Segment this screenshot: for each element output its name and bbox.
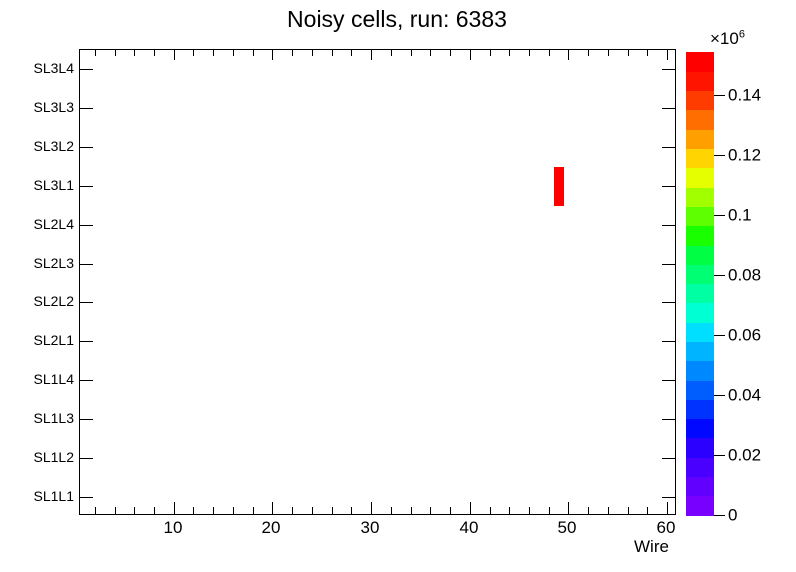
palette-band [686,457,714,477]
z-axis-tick [714,335,725,336]
x-axis-tick-top [213,50,214,56]
x-axis-tick-minor [332,507,333,514]
x-axis-tick-top [332,50,333,56]
x-axis-tick-minor [608,507,609,514]
x-axis-tick-top [193,50,194,56]
x-axis-tick-top [549,50,550,56]
y-axis-tick-right [662,147,675,148]
x-axis-tick-minor [529,507,530,514]
x-axis-tick-major [371,502,372,514]
z-axis-label-0-14: 0.14 [728,87,761,104]
x-axis-tick-top [371,50,372,60]
x-axis-tick-major [667,502,668,514]
palette-band [686,91,714,111]
palette-band [686,129,714,149]
heatmap-cell [554,167,564,206]
y-axis-tick [80,380,93,381]
z-axis-tick [714,275,725,276]
x-axis-tick-minor [628,507,629,514]
palette-band [686,245,714,265]
palette-band [686,341,714,361]
x-axis-tick-top [95,50,96,56]
x-axis-tick-minor [391,507,392,514]
y-axis-tick-right [662,419,675,420]
y-axis-label-sl3l2: SL3L2 [34,139,74,153]
x-axis-tick-top [430,50,431,56]
z-axis-label-0-06: 0.06 [728,327,761,344]
z-exponent-base: ×10 [710,29,739,48]
x-axis-tick-minor [292,507,293,514]
z-axis-tick [714,215,725,216]
z-axis-label-0-12: 0.12 [728,147,761,164]
x-axis-label-50: 50 [558,519,577,537]
z-axis-label-0-1: 0.1 [728,207,752,224]
x-axis-tick-minor [233,507,234,514]
x-axis-tick-top [411,50,412,56]
y-axis-label-sl1l2: SL1L2 [34,450,74,464]
palette-band [686,52,714,72]
y-axis-tick [80,264,93,265]
palette-band [686,264,714,284]
y-axis-tick-right [662,302,675,303]
x-axis-tick-minor [193,507,194,514]
x-axis-tick-top [470,50,471,60]
palette-band [686,438,714,458]
x-axis-label-40: 40 [460,519,479,537]
y-axis-tick [80,186,93,187]
x-axis-tick-top [253,50,254,56]
palette-band [686,361,714,381]
z-axis-label-0: 0 [728,507,737,524]
z-axis-tick [714,455,725,456]
x-axis-title: Wire [634,537,669,556]
x-axis-tick-top [667,50,668,60]
x-axis-tick-minor [549,507,550,514]
y-axis-label-sl2l1: SL2L1 [34,333,74,347]
x-axis-tick-top [272,50,273,60]
y-axis-label-sl1l3: SL1L3 [34,411,74,425]
palette-band [686,419,714,439]
z-axis-tick [714,395,725,396]
palette-band [686,71,714,91]
y-axis-tick-right [662,69,675,70]
x-axis-tick-major [470,502,471,514]
page-title: Noisy cells, run: 6383 [0,6,795,32]
x-axis-tick-top [450,50,451,56]
x-axis-tick-minor [430,507,431,514]
y-axis-tick [80,108,93,109]
y-axis-label-sl2l4: SL2L4 [34,217,74,231]
palette-band [686,206,714,226]
x-axis-tick-top [154,50,155,56]
z-axis-tick [714,515,725,516]
y-axis-label-sl3l4: SL3L4 [34,61,74,75]
x-axis-tick-top [134,50,135,56]
y-axis-tick [80,497,93,498]
palette-band [686,226,714,246]
palette-band [686,148,714,168]
y-axis-label-sl1l1: SL1L1 [34,489,74,503]
y-axis-tick-right [662,108,675,109]
root-canvas: Noisy cells, run: 6383 SL1L1SL1L2SL1L3SL… [0,0,796,572]
x-axis-tick-major [174,502,175,514]
x-axis-tick-major [568,502,569,514]
y-axis-tick [80,302,93,303]
x-axis-tick-minor [647,507,648,514]
palette-band [686,476,714,496]
x-axis-tick-top [628,50,629,56]
z-axis-exponent: ×106 [710,30,745,48]
x-axis-tick-top [588,50,589,56]
y-axis-tick-right [662,264,675,265]
palette-band [686,187,714,207]
x-axis-tick-minor [351,507,352,514]
y-axis-label-sl3l3: SL3L3 [34,100,74,114]
x-axis-tick-top [351,50,352,56]
x-axis-tick-minor [95,507,96,514]
y-axis-tick-right [662,225,675,226]
x-axis-tick-minor [509,507,510,514]
x-axis-tick-minor [213,507,214,514]
x-axis-tick-minor [490,507,491,514]
x-axis-tick-top [115,50,116,56]
y-axis-tick [80,341,93,342]
x-axis-tick-minor [450,507,451,514]
palette-band [686,380,714,400]
x-axis-tick-top [490,50,491,56]
x-axis-tick-minor [588,507,589,514]
z-exponent-power: 6 [739,28,745,40]
x-axis-tick-minor [253,507,254,514]
x-axis-tick-top [568,50,569,60]
z-axis-tick [714,95,725,96]
color-palette-axis: 00.020.040.060.080.10.120.14 [714,52,796,515]
x-axis-tick-top [608,50,609,56]
y-axis-label-sl2l3: SL2L3 [34,256,74,270]
x-axis-tick-top [509,50,510,56]
y-axis-tick-right [662,497,675,498]
palette-band [686,496,714,516]
y-axis-tick-right [662,341,675,342]
x-axis-tick-top [391,50,392,56]
z-axis-label-0-08: 0.08 [728,267,761,284]
y-axis-tick [80,458,93,459]
x-axis-tick-top [312,50,313,56]
y-axis-tick [80,419,93,420]
x-axis-label-10: 10 [164,519,183,537]
x-axis-label-60: 60 [657,519,676,537]
palette-band [686,284,714,304]
x-axis-label-30: 30 [361,519,380,537]
x-axis-tick-minor [134,507,135,514]
y-axis-tick-right [662,380,675,381]
color-palette-bar [686,52,714,515]
palette-band [686,322,714,342]
x-axis-tick-top [647,50,648,56]
x-axis-tick-minor [411,507,412,514]
y-axis-tick-right [662,458,675,459]
z-axis-label-0-04: 0.04 [728,387,761,404]
y-axis-tick [80,147,93,148]
z-axis-tick [714,155,725,156]
x-axis-tick-top [174,50,175,60]
palette-band [686,399,714,419]
x-axis-tick-minor [154,507,155,514]
x-axis-tick-major [272,502,273,514]
x-axis-tick-top [233,50,234,56]
z-axis-label-0-02: 0.02 [728,447,761,464]
y-axis-tick-right [662,186,675,187]
x-axis-tick-top [292,50,293,56]
x-axis-tick-top [529,50,530,56]
x-axis-tick-minor [312,507,313,514]
y-axis-label-sl2l2: SL2L2 [34,294,74,308]
palette-band [686,168,714,188]
x-axis-tick-minor [115,507,116,514]
y-axis-tick [80,69,93,70]
y-axis-tick [80,225,93,226]
y-axis-label-sl1l4: SL1L4 [34,372,74,386]
plot-frame [79,49,676,515]
palette-band [686,110,714,130]
y-axis-label-sl3l1: SL3L1 [34,178,74,192]
x-axis-label-20: 20 [262,519,281,537]
palette-band [686,303,714,323]
